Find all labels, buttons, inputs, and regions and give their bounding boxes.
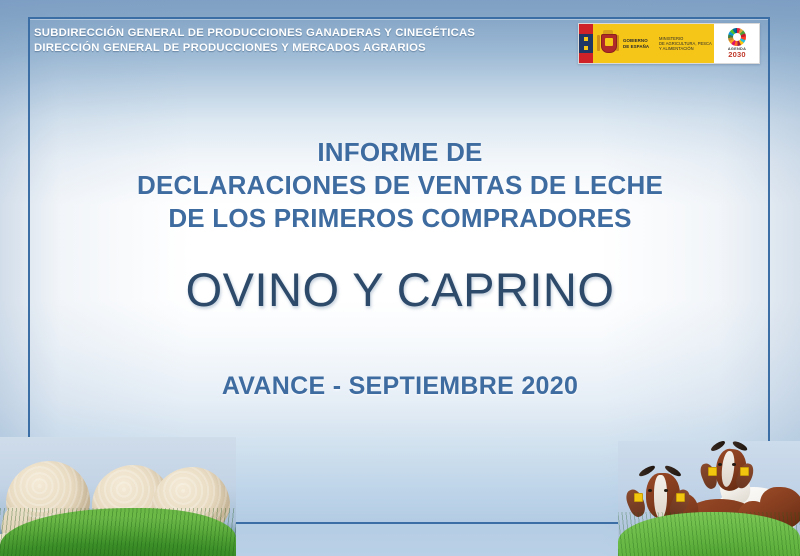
report-subtitle: AVANCE - SEPTIEMBRE 2020 [0,372,800,401]
government-logo: GOBIERNO DE ESPAÑA MINISTERIO DE AGRICUL… [578,23,760,64]
header-department-text: SUBDIRECCIÓN GENERAL DE PRODUCCIONES GAN… [34,26,594,55]
frame-highlight-line [30,19,768,20]
government-line-2: DE ESPAÑA [623,44,657,49]
flag-red-bottom [579,53,593,63]
logo-text-group: GOBIERNO DE ESPAÑA MINISTERIO DE AGRICUL… [623,36,714,51]
sheep-photo [0,437,236,556]
goat-back-eye-right [732,463,736,466]
sdg-wheel-icon [728,28,746,46]
report-cover-page: SUBDIRECCIÓN GENERAL DE PRODUCCIONES GAN… [0,0,800,556]
title-line-3: DE LOS PRIMEROS COMPRADORES [0,202,800,235]
logo-yellow-band: GOBIERNO DE ESPAÑA MINISTERIO DE AGRICUL… [593,24,714,63]
agenda-year: 2030 [728,51,746,59]
sheep-photo-grass [0,508,236,556]
coat-of-arms-icon [597,30,619,58]
goat-front-eartag-left [634,493,643,502]
header-line-2: DIRECCIÓN GENERAL DE PRODUCCIONES Y MERC… [34,41,594,56]
flag-red-top [579,24,593,34]
header-line-1: SUBDIRECCIÓN GENERAL DE PRODUCCIONES GAN… [34,26,594,41]
main-title: OVINO Y CAPRINO [0,264,800,316]
flag-navy-middle [579,34,593,54]
spanish-flag-icon [579,24,593,63]
ministry-line-3: Y ALIMENTACIÓN [659,46,714,51]
goat-front-eye-left [648,489,652,492]
shield-shape [601,34,617,53]
goats-photo [618,441,800,556]
goat-back-eye-left [718,463,722,466]
goat-front-eartag-right [676,493,685,502]
government-text: GOBIERNO DE ESPAÑA [623,38,659,48]
pillar-left-shape [597,35,600,51]
report-title-block: INFORME DE DECLARACIONES DE VENTAS DE LE… [0,136,800,235]
title-line-1: INFORME DE [0,136,800,169]
crown-shape [603,30,613,34]
goat-front-eye-right [664,489,668,492]
agenda-2030-logo: AGENDA 2030 [714,24,759,63]
ministry-text: MINISTERIO DE AGRICULTURA, PESCA Y ALIME… [659,36,714,51]
goats-photo-grass [618,512,800,556]
title-line-2: DECLARACIONES DE VENTAS DE LECHE [0,169,800,202]
